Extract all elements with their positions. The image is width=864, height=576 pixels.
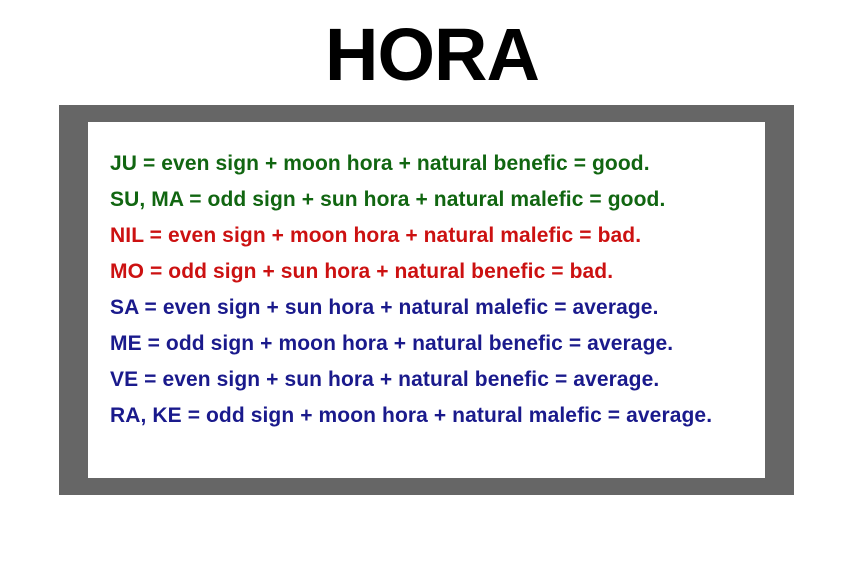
rule-line-2: SU, MA = odd sign + sun hora + natural m…	[110, 182, 765, 218]
rule-line-3: NIL = even sign + moon hora + natural ma…	[110, 218, 765, 254]
content-frame-border: JU = even sign + moon hora + natural ben…	[59, 105, 794, 495]
page-title: HORA	[0, 16, 864, 94]
rule-line-7: VE = even sign + sun hora + natural bene…	[110, 362, 765, 398]
slide-canvas: HORA JU = even sign + moon hora + natura…	[0, 0, 864, 576]
rule-line-1: JU = even sign + moon hora + natural ben…	[110, 146, 765, 182]
rule-line-6: ME = odd sign + moon hora + natural bene…	[110, 326, 765, 362]
rule-line-4: MO = odd sign + sun hora + natural benef…	[110, 254, 765, 290]
rule-line-5: SA = even sign + sun hora + natural male…	[110, 290, 765, 326]
content-panel: JU = even sign + moon hora + natural ben…	[88, 122, 765, 478]
rule-line-8: RA, KE = odd sign + moon hora + natural …	[110, 398, 765, 434]
